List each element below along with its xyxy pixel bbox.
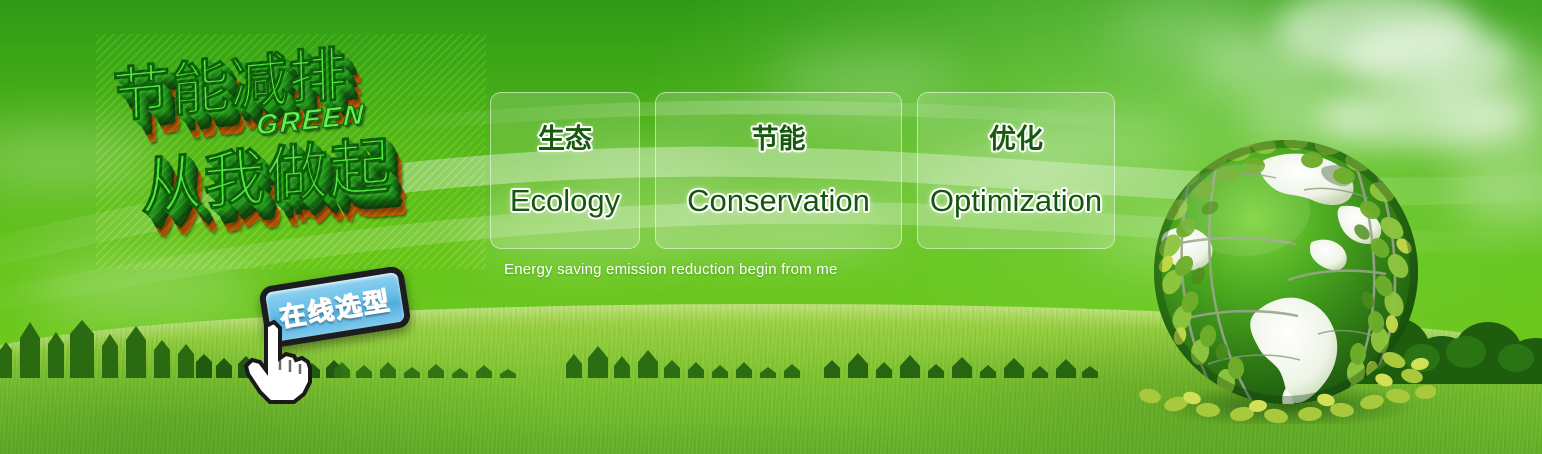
- hero-title: 节能减排 从我做起 GREEN: [96, 34, 486, 269]
- feature-card-list: 生态 Ecology 节能 Conservation 优化 Optimizati…: [490, 92, 1115, 249]
- green-banner: 节能减排 从我做起 GREEN 在线选型 生态 Ecology 节能 Conse…: [0, 0, 1542, 454]
- feature-card-conservation[interactable]: 节能 Conservation: [655, 92, 902, 249]
- online-selection-button-label: 在线选型: [277, 280, 393, 334]
- cloud-icon: [1275, 0, 1475, 72]
- feature-card-en-label: Optimization: [930, 185, 1102, 216]
- feature-card-optimization[interactable]: 优化 Optimization: [917, 92, 1115, 249]
- banner-tagline: Energy saving emission reduction begin f…: [504, 261, 838, 278]
- cloud-icon: [1340, 20, 1515, 94]
- feature-card-zh-label: 优化: [989, 126, 1043, 153]
- feature-card-en-label: Conservation: [687, 185, 870, 216]
- feature-card-en-label: Ecology: [510, 185, 620, 216]
- cloud-icon: [1195, 36, 1345, 92]
- feature-card-zh-label: 节能: [752, 126, 806, 153]
- feature-card-ecology[interactable]: 生态 Ecology: [490, 92, 640, 249]
- cloud-icon: [1440, 112, 1542, 164]
- cloud-icon: [1450, 168, 1542, 222]
- leafy-earth-globe-icon: [1136, 124, 1436, 424]
- cloud-icon: [1420, 52, 1542, 118]
- feature-card-zh-label: 生态: [538, 126, 592, 153]
- cloud-icon: [1110, 6, 1260, 54]
